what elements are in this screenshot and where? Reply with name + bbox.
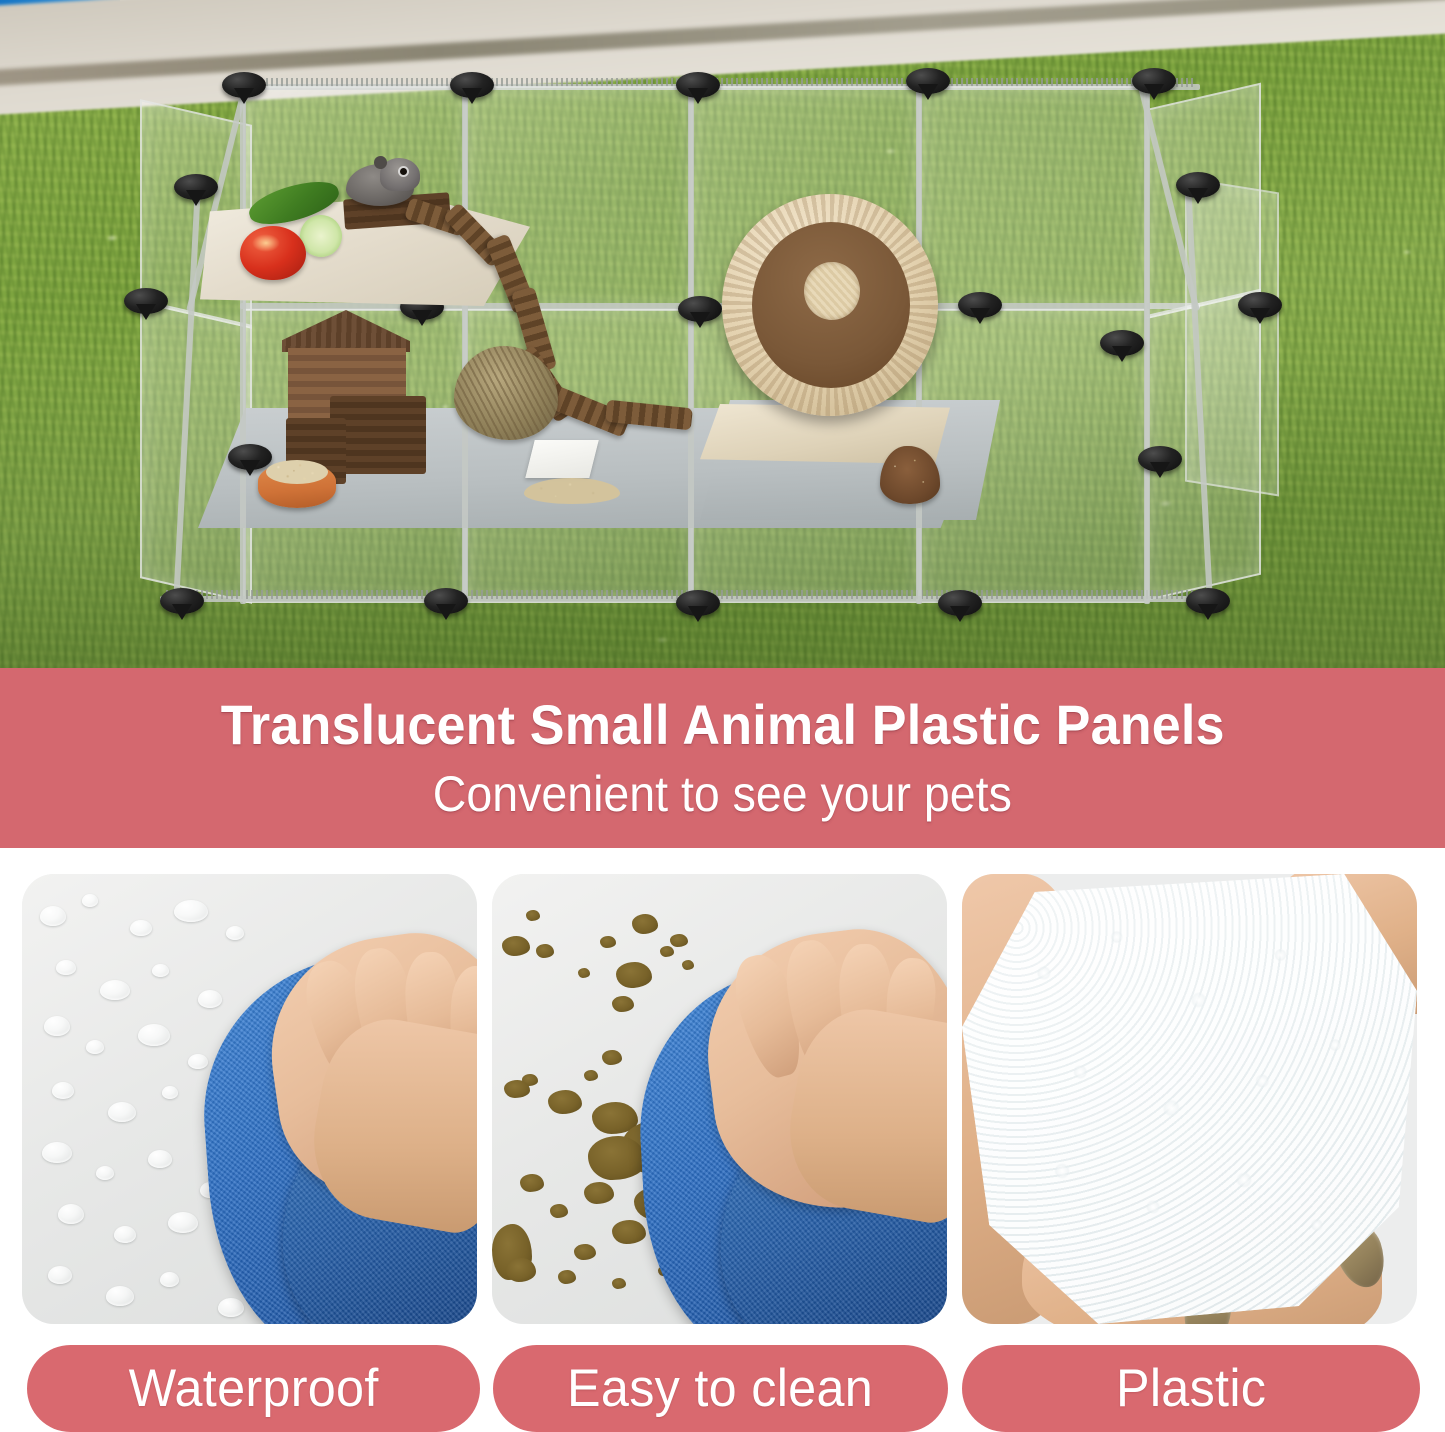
hamster-ear — [374, 156, 387, 169]
feature-image-plastic — [962, 874, 1417, 1324]
pen-rail-v-1 — [240, 84, 246, 604]
panel-connector-clip — [678, 296, 722, 322]
banner-subtitle: Convenient to see your pets — [433, 769, 1012, 819]
pen-rail-v-2 — [462, 84, 468, 604]
feature-label-plastic[interactable]: Plastic — [962, 1345, 1420, 1432]
seed-pile — [524, 478, 620, 504]
feature-label-waterproof[interactable]: Waterproof — [27, 1345, 480, 1432]
feature-image-easy-to-clean — [492, 874, 947, 1324]
headline-banner: Translucent Small Animal Plastic Panels … — [0, 668, 1445, 848]
panel-connector-clip — [450, 72, 494, 98]
panel-connector-clip — [1238, 292, 1282, 318]
pet-playpen — [0, 0, 1445, 668]
feature-label-row: Waterproof Easy to clean Plastic — [0, 1345, 1445, 1432]
hero-product-photo — [0, 0, 1445, 668]
panel-connector-clip — [160, 588, 204, 614]
panel-connector-clip — [228, 444, 272, 470]
panel-connector-clip — [938, 590, 982, 616]
banner-title: Translucent Small Animal Plastic Panels — [221, 697, 1225, 753]
paper-card — [525, 440, 598, 478]
panel-connector-clip — [1138, 446, 1182, 472]
panel-connector-clip — [424, 588, 468, 614]
pen-panel-rear-4 — [917, 86, 1149, 310]
panel-connector-clip — [676, 590, 720, 616]
feature-label-text: Waterproof — [128, 1358, 378, 1419]
exercise-wheel-hub — [804, 262, 860, 320]
panel-connector-clip — [676, 72, 720, 98]
feature-label-easy-to-clean[interactable]: Easy to clean — [493, 1345, 948, 1432]
hamster-eye — [400, 168, 407, 175]
pen-rail-v-5 — [1144, 84, 1150, 604]
panel-connector-clip — [958, 292, 1002, 318]
panel-connector-clip — [1132, 68, 1176, 94]
food-bowl-seeds — [266, 460, 328, 484]
panel-connector-clip — [222, 72, 266, 98]
plastic-pellets — [962, 874, 1417, 1324]
panel-connector-clip — [906, 68, 950, 94]
feature-label-text: Easy to clean — [568, 1358, 874, 1419]
apple — [240, 226, 306, 280]
panel-connector-clip — [1176, 172, 1220, 198]
panel-connector-clip — [174, 174, 218, 200]
feature-label-text: Plastic — [1116, 1358, 1266, 1419]
apple-highlight — [252, 234, 280, 252]
panel-connector-clip — [1186, 588, 1230, 614]
panel-connector-clip — [124, 288, 168, 314]
panel-connector-clip — [1100, 330, 1144, 356]
feature-image-waterproof — [22, 874, 477, 1324]
pen-rail-v-3 — [688, 84, 694, 604]
